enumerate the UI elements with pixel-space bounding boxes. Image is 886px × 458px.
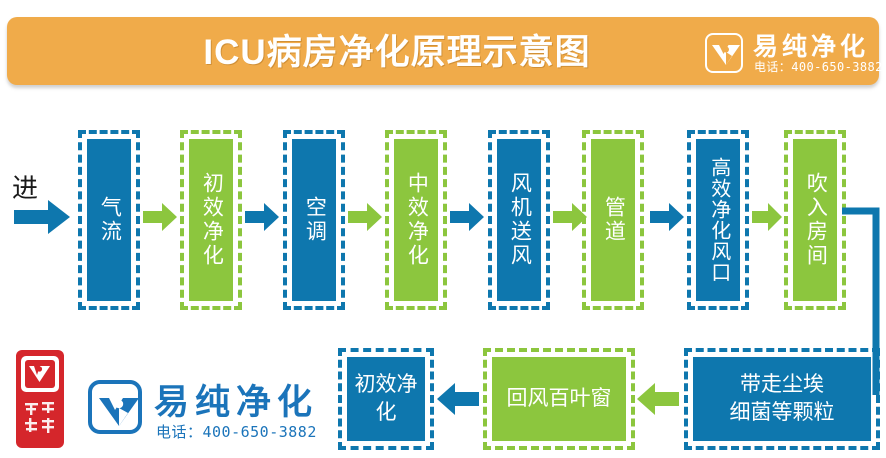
diagram-canvas: ICU病房净化原理示意图 易纯净化 电话：400-650-3882 进 气流 [0,0,886,458]
node-fill: 高效净化风口 [696,139,740,301]
node-fill: 管道 [591,139,635,301]
flow-arrow-6-icon [650,203,684,236]
flow-arrow-4-icon [450,203,484,236]
entry-arrow-icon [14,200,70,239]
node-label: 管道 [602,196,625,244]
node-fill: 空调 [292,139,336,301]
node-label: 初效净化 [347,371,425,428]
node-fill: 吹入房间 [793,139,837,301]
footer-brand-name: 易纯净化 [154,374,318,425]
node-label: 高效净化风口 [707,157,729,283]
node-fill: 风机送风 [497,139,541,301]
flow-arrow-2-icon [245,203,279,236]
footer-phone: 电话：400-650-3882 [156,421,317,442]
flow-node-chuiru-fangjian[interactable]: 吹入房间 [784,130,846,310]
node-label: 空调 [303,196,326,244]
footer-logo: 易纯净化 电话：400-650-3882 [88,378,328,444]
header-phone: 电话：400-650-3882 [754,58,883,75]
flow-node-chuxiao-jinghua-return[interactable]: 初效净化 [338,348,434,450]
node-fill: 气流 [87,139,131,301]
company-seal-stamp-icon [14,348,66,450]
flow-arrow-1-icon [143,203,177,236]
node-label: 风机送风 [508,172,531,268]
flow-node-kongtiao[interactable]: 空调 [283,130,345,310]
flow-node-guandao[interactable]: 管道 [582,130,644,310]
ec-w-mark-icon [88,380,142,434]
flow-arrow-9-icon [437,383,479,420]
flow-arrow-3-icon [348,203,382,236]
flow-arrow-8-icon [637,383,679,420]
node-fill: 初效净化 [347,357,425,441]
flow-node-chuxiao-jinghua[interactable]: 初效净化 [180,130,242,310]
flow-node-zhongxiao-jinghua[interactable]: 中效净化 [385,130,447,310]
node-label: 中效净化 [405,172,428,268]
flow-arrow-7-icon [752,203,782,236]
node-fill: 带走尘埃 细菌等颗粒 [693,357,871,441]
page-title: ICU病房净化原理示意图 [162,31,632,75]
node-label: 初效净化 [200,172,223,268]
flow-node-qiliu[interactable]: 气流 [78,130,140,310]
node-fill: 回风百叶窗 [492,357,626,441]
node-label: 回风百叶窗 [507,385,612,413]
header-logo: 易纯净化 电话：400-650-3882 [705,29,880,75]
ec-w-mark-icon [705,33,743,73]
flow-node-fengji-songfeng[interactable]: 风机送风 [488,130,550,310]
flow-node-huifeng-baiyechuang[interactable]: 回风百叶窗 [483,348,635,450]
flow-node-gaoxiao-jinghua-fengkou[interactable]: 高效净化风口 [687,130,749,310]
flow-node-daizou-chenai[interactable]: 带走尘埃 细菌等颗粒 [684,348,880,450]
node-fill: 初效净化 [189,139,233,301]
node-label: 气流 [98,196,121,244]
node-label: 吹入房间 [804,172,827,268]
node-label: 带走尘埃 细菌等颗粒 [730,371,835,428]
header-banner: ICU病房净化原理示意图 易纯净化 电话：400-650-3882 [7,17,879,85]
node-fill: 中效净化 [394,139,438,301]
